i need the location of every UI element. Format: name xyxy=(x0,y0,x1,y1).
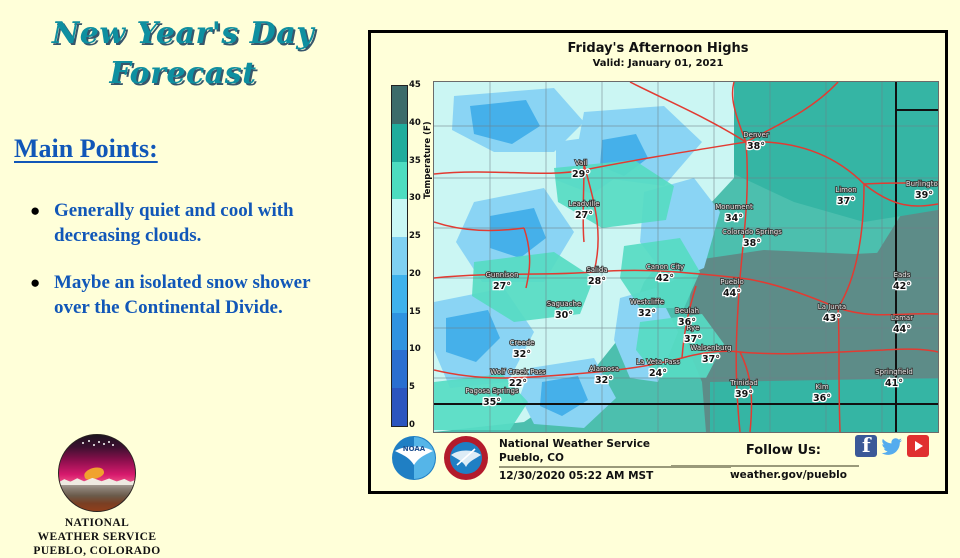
colorbar-tick: 20 xyxy=(409,269,421,279)
follow-us-label: Follow Us: xyxy=(746,443,821,458)
colorbar-tick: 30 xyxy=(409,193,421,203)
city-name: Kim xyxy=(815,383,829,391)
city-name: Trinidad xyxy=(729,379,758,387)
forecast-graphic-panel: Friday's Afternoon Highs Valid: January … xyxy=(368,30,948,494)
city-name: Monument xyxy=(715,203,753,211)
city-label: Pueblo44° xyxy=(720,278,744,299)
city-temperature: 38° xyxy=(747,141,765,152)
city-temperature: 43° xyxy=(823,313,841,324)
city-label: Rye37° xyxy=(684,324,702,345)
city-temperature: 38° xyxy=(743,238,761,249)
social-links xyxy=(855,435,929,457)
city-temperature: 32° xyxy=(638,308,656,319)
slide-title: New Year's Day Forecast xyxy=(0,14,366,94)
city-name: Pueblo xyxy=(720,278,744,286)
footer-office: Pueblo, CO xyxy=(499,451,731,465)
colorbar-band xyxy=(392,199,407,237)
colorbar-axis-label: Temperature (F) xyxy=(423,121,433,199)
bullet-marker-icon: ● xyxy=(22,270,54,320)
youtube-icon[interactable] xyxy=(907,435,929,457)
office-caption-line-3: Pueblo, Colorado xyxy=(22,544,172,558)
city-temperature: 24° xyxy=(649,368,667,379)
colorbar-band xyxy=(392,237,407,275)
city-name: Lamar xyxy=(891,314,913,322)
colorbar-tick: 0 xyxy=(409,420,415,430)
city-temperature: 36° xyxy=(813,393,831,404)
city-label: Lamar44° xyxy=(891,314,913,335)
city-name: Pagosa Springs xyxy=(465,387,519,395)
city-name: Alamosa xyxy=(589,365,619,373)
colorbar-tick: 5 xyxy=(409,382,415,392)
city-temperature: 32° xyxy=(513,349,531,360)
slide-root: New Year's Day Forecast Main Points: ● G… xyxy=(0,0,960,540)
city-name: Wolf Creek Pass xyxy=(490,368,546,376)
city-temperature: 39° xyxy=(735,389,753,400)
colorbar-band xyxy=(392,86,407,124)
office-caption-line-2: Weather Service xyxy=(22,530,172,544)
graphic-subtitle: Valid: January 01, 2021 xyxy=(371,58,945,69)
nws-pueblo-logo: National Weather Service Pueblo, Colorad… xyxy=(22,434,172,558)
footer-timestamp: 12/30/2020 05:22 AM MST xyxy=(499,469,731,483)
footer-divider-right xyxy=(671,465,859,467)
mountain-ridge-icon xyxy=(59,478,135,486)
list-item: ● Maybe an isolated snow shower over the… xyxy=(22,270,362,320)
colorbar-band xyxy=(392,388,407,426)
city-label: Eads42° xyxy=(893,271,911,292)
colorbar-band xyxy=(392,350,407,388)
bullet-marker-icon: ● xyxy=(22,198,54,248)
footer-agency-block: National Weather Service Pueblo, CO 12/3… xyxy=(499,437,731,483)
colorbar-band xyxy=(392,275,407,313)
city-name: Denver xyxy=(743,131,769,139)
bullet-list: ● Generally quiet and cool with decreasi… xyxy=(22,198,362,342)
city-name: Walsenburg xyxy=(690,344,731,352)
office-caption-line-1: National xyxy=(22,516,172,530)
city-name: Limon xyxy=(835,186,856,194)
city-temperature: 29° xyxy=(572,169,590,180)
graphic-title: Friday's Afternoon Highs xyxy=(371,41,945,56)
city-temperature: 28° xyxy=(588,276,606,287)
forecast-map[interactable]: Denver38°Vail29°Leadville27°Monument34°C… xyxy=(433,81,939,433)
twitter-icon[interactable] xyxy=(881,435,903,457)
list-item: ● Generally quiet and cool with decreasi… xyxy=(22,198,362,248)
colorbar-tick: 40 xyxy=(409,118,421,128)
footer-website: weather.gov/pueblo xyxy=(730,469,847,481)
colorbar-band xyxy=(392,124,407,162)
city-temperature: 32° xyxy=(595,375,613,386)
slide-title-line-1: New Year's Day xyxy=(0,14,366,54)
colorbar-tick: 35 xyxy=(409,156,421,166)
svg-text:NOAA: NOAA xyxy=(403,445,426,453)
city-temperature: 34° xyxy=(725,213,743,224)
bullet-text: Maybe an isolated snow shower over the C… xyxy=(54,270,326,320)
city-name: Leadville xyxy=(568,200,599,208)
city-temperature: 44° xyxy=(723,288,741,299)
city-name: Creede xyxy=(510,339,535,347)
footer-agency: National Weather Service xyxy=(499,437,731,451)
slide-title-line-2: Forecast xyxy=(0,54,366,94)
sunset-mountain-icon xyxy=(58,434,136,512)
city-temperature: 37° xyxy=(702,354,720,365)
colorbar-tick: 45 xyxy=(409,80,421,90)
city-name: Gunnison xyxy=(485,271,518,279)
city-name: Rye xyxy=(687,324,700,332)
colorbar-band xyxy=(392,162,407,200)
nws-logo-icon xyxy=(443,435,489,481)
graphic-footer: NOAA National Weather Service Pueblo, CO… xyxy=(377,431,939,487)
main-points-heading: Main Points: xyxy=(14,134,158,164)
city-name: Salida xyxy=(586,266,607,274)
office-logo-caption: National Weather Service Pueblo, Colorad… xyxy=(22,516,172,558)
city-name: Canon City xyxy=(646,263,684,271)
colorbar-gradient xyxy=(391,85,408,427)
city-temperature: 30° xyxy=(555,310,573,321)
city-name: Colorado Springs xyxy=(722,228,782,236)
bullet-text: Generally quiet and cool with decreasing… xyxy=(54,198,326,248)
left-panel: New Year's Day Forecast Main Points: ● G… xyxy=(0,0,366,540)
city-temperature: 41° xyxy=(885,378,903,389)
colorbar-tick: 10 xyxy=(409,344,421,354)
stars-decoration xyxy=(80,440,113,449)
city-name: Beulah xyxy=(675,307,699,315)
city-name: Westcliffe xyxy=(630,298,664,306)
city-temperature: 44° xyxy=(893,324,911,335)
city-temperature: 42° xyxy=(893,281,911,292)
city-temperature: 27° xyxy=(575,210,593,221)
city-name: La Veta Pass xyxy=(636,358,680,366)
city-name: Burlington xyxy=(906,180,938,188)
city-temperature: 37° xyxy=(837,196,855,207)
colorbar-tick: 15 xyxy=(409,307,421,317)
city-temperature: 39° xyxy=(915,190,933,201)
city-temperature: 35° xyxy=(483,397,501,408)
city-name: Saguache xyxy=(547,300,582,308)
city-name: Springfield xyxy=(875,368,913,376)
colorbar-tick: 25 xyxy=(409,231,421,241)
city-label: Creede32° xyxy=(510,339,535,360)
colorbar-band xyxy=(392,313,407,351)
city-label: Kim36° xyxy=(813,383,831,404)
noaa-logo-icon: NOAA xyxy=(391,435,437,481)
city-name: Vail xyxy=(575,159,587,167)
city-label: Limon37° xyxy=(835,186,856,207)
city-label: Salida28° xyxy=(586,266,607,287)
city-temperature: 27° xyxy=(493,281,511,292)
city-name: Eads xyxy=(894,271,911,279)
city-name: La Junta xyxy=(818,303,846,311)
facebook-icon[interactable] xyxy=(855,435,877,457)
city-temperature: 42° xyxy=(656,273,674,284)
